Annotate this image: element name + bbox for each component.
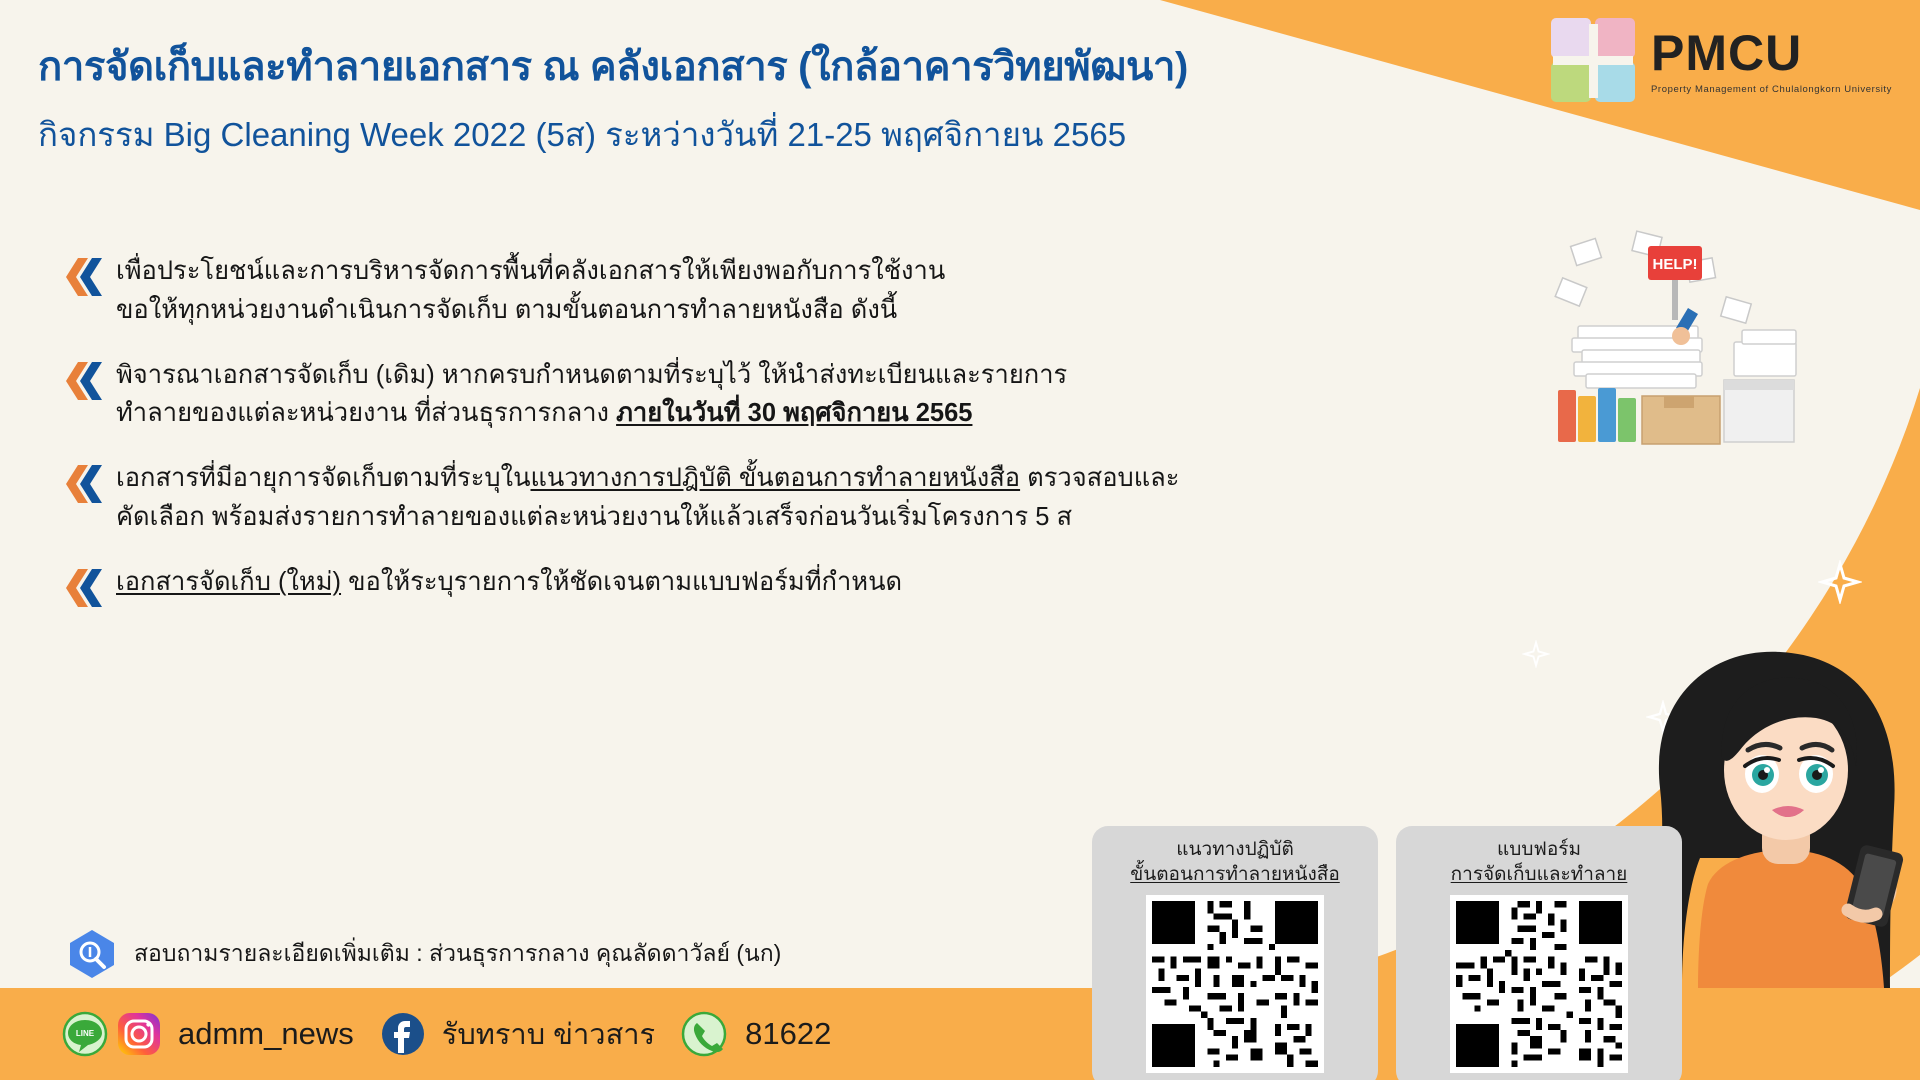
qr-card-form[interactable]: แบบฟอร์ม การจัดเก็บและทำลาย — [1396, 826, 1682, 1080]
bullet-item-4: เอกสารจัดเก็บ (ใหม่) ขอให้ระบุรายการให้ช… — [66, 563, 1246, 611]
bullet-3-line-2: คัดเลือก พร้อมส่งรายการทำลายของแต่ละหน่ว… — [116, 498, 1180, 537]
guideline-link[interactable]: แนวทางการปฎิบัติ ขั้นตอนการทำลายหนังสือ — [531, 464, 1021, 492]
qr-card-guideline-title: แนวทางปฏิบัติ ขั้นตอนการทำลายหนังสือ — [1102, 838, 1368, 887]
line-icon[interactable]: LINE — [62, 1011, 108, 1057]
qr-card-group: แนวทางปฏิบัติ ขั้นตอนการทำลายหนังสือ — [1092, 826, 1682, 1080]
bullet-3-pre: เอกสารที่มีอายุการจัดเก็บตามที่ระบุใน — [116, 464, 531, 492]
facebook-label[interactable]: รับทราบ ข่าวสาร — [442, 1011, 655, 1057]
pmcu-logo-mark — [1551, 18, 1637, 104]
bullet-item-1: เพื่อประโยชน์และการบริหารจัดการพื้นที่คล… — [66, 252, 1246, 330]
qr-form-line2: การจัดเก็บและทำลาย — [1406, 863, 1672, 888]
bullet-1-line-2: ขอให้ทุกหน่วยงานดำเนินการจัดเก็บ ตามขั้น… — [116, 291, 945, 330]
bullet-1-line-1: เพื่อประโยชน์และการบริหารจัดการพื้นที่คล… — [116, 252, 945, 291]
svg-text:HELP!: HELP! — [1653, 256, 1698, 273]
bullet-text-2: พิจารณาเอกสารจัดเก็บ (เดิม) หากครบกำหนดต… — [116, 356, 1067, 434]
double-chevron-icon — [66, 358, 104, 404]
pmcu-logo: PMCU Property Management of Chulalongkor… — [1551, 18, 1892, 104]
contact-line: สอบถามรายละเอียดเพิ่มเติม : ส่วนธุรการกล… — [66, 928, 781, 980]
bullet-text-4: เอกสารจัดเก็บ (ใหม่) ขอให้ระบุรายการให้ช… — [116, 563, 902, 602]
bullet-item-3: เอกสารที่มีอายุการจัดเก็บตามที่ระบุในแนว… — [66, 459, 1246, 537]
qr-code[interactable] — [1450, 895, 1628, 1073]
svg-text:LINE: LINE — [76, 1029, 95, 1038]
bullet-4-post: ขอให้ระบุรายการให้ชัดเจนตามแบบฟอร์มที่กำ… — [341, 568, 902, 596]
phone-number[interactable]: 81622 — [745, 1016, 831, 1052]
contact-text: สอบถามรายละเอียดเพิ่มเติม : ส่วนธุรการกล… — [134, 936, 781, 972]
phone-icon[interactable] — [681, 1011, 727, 1057]
bullet-text-1: เพื่อประโยชน์และการบริหารจัดการพื้นที่คล… — [116, 252, 945, 330]
bullet-text-3: เอกสารที่มีอายุการจัดเก็บตามที่ระบุในแนว… — [116, 459, 1180, 537]
search-hex-icon — [66, 928, 118, 980]
bullet-item-2: พิจารณาเอกสารจัดเก็บ (เดิม) หากครบกำหนดต… — [66, 356, 1246, 434]
social-bar: LINE admm_news — [62, 988, 831, 1080]
bullet-2-line-2-plain: ทำลายของแต่ละหน่วยงาน ที่ส่วนธุรการกลาง — [116, 399, 616, 427]
qr-guideline-line1: แนวทางปฏิบัติ — [1102, 838, 1368, 863]
poster-canvas: PMCU Property Management of Chulalongkor… — [0, 0, 1920, 1080]
bullet-2-line-2: ทำลายของแต่ละหน่วยงาน ที่ส่วนธุรการกลาง … — [116, 394, 1067, 433]
bullet-2-line-1: พิจารณาเอกสารจัดเก็บ (เดิม) หากครบกำหนดต… — [116, 356, 1067, 395]
qr-guideline-line2: ขั้นตอนการทำลายหนังสือ — [1102, 863, 1368, 888]
logo-horizontal-gap — [1553, 56, 1633, 65]
new-document-link[interactable]: เอกสารจัดเก็บ (ใหม่) — [116, 568, 341, 596]
bullet-list: เพื่อประโยชน์และการบริหารจัดการพื้นที่คล… — [66, 252, 1246, 637]
qr-card-guideline[interactable]: แนวทางปฏิบัติ ขั้นตอนการทำลายหนังสือ — [1092, 826, 1378, 1080]
sparkle-icon — [1818, 560, 1862, 609]
logo-name: PMCU — [1651, 28, 1892, 78]
qr-form-line1: แบบฟอร์ม — [1406, 838, 1672, 863]
page-title: การจัดเก็บและทำลายเอกสาร ณ คลังเอกสาร (ใ… — [38, 42, 1638, 92]
pmcu-logo-text: PMCU Property Management of Chulalongkor… — [1651, 28, 1892, 95]
logo-square-blue — [1595, 62, 1635, 102]
instagram-icon[interactable] — [116, 1011, 162, 1057]
logo-square-lilac — [1551, 18, 1591, 58]
poster-header: การจัดเก็บและทำลายเอกสาร ณ คลังเอกสาร (ใ… — [38, 42, 1638, 155]
bullet-3-line-1: เอกสารที่มีอายุการจัดเก็บตามที่ระบุในแนว… — [116, 459, 1180, 498]
qr-code[interactable] — [1146, 895, 1324, 1073]
double-chevron-icon — [66, 565, 104, 611]
documents-illustration: HELP! — [1538, 230, 1828, 480]
page-subtitle: กิจกรรม Big Cleaning Week 2022 (5ส) ระหว… — [38, 114, 1638, 155]
instagram-handle[interactable]: admm_news — [178, 1016, 354, 1052]
facebook-icon[interactable] — [380, 1011, 426, 1057]
sparkle-icon — [1522, 640, 1550, 673]
bullet-4-line-1: เอกสารจัดเก็บ (ใหม่) ขอให้ระบุรายการให้ช… — [116, 563, 902, 602]
deadline-emphasis: ภายในวันที่ 30 พฤศจิกายน 2565 — [616, 399, 972, 427]
double-chevron-icon — [66, 461, 104, 507]
qr-card-form-title: แบบฟอร์ม การจัดเก็บและทำลาย — [1406, 838, 1672, 887]
logo-square-pink — [1595, 18, 1635, 58]
logo-square-green — [1551, 62, 1591, 102]
double-chevron-icon — [66, 254, 104, 300]
bullet-3-post: ตรวจสอบและ — [1020, 464, 1179, 492]
logo-tagline: Property Management of Chulalongkorn Uni… — [1651, 84, 1892, 95]
